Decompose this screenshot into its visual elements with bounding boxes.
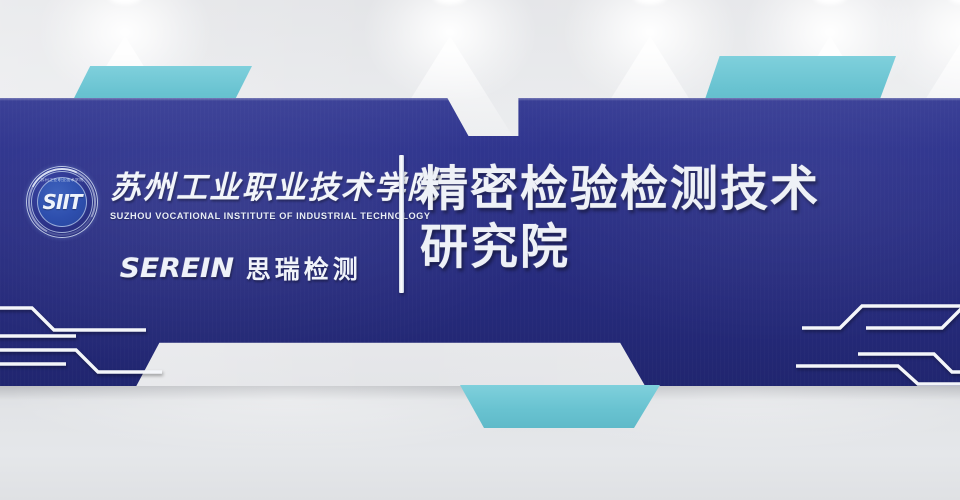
partner-logo-row: SEREIN 思瑞检测 — [122, 250, 362, 286]
circuit-left-svg — [0, 296, 244, 382]
signage-scene: 苏州工业职业技术学院 SIIT 苏州工业职业技术学院 SUZHOU VOCATI… — [0, 0, 960, 500]
emblem-monogram: SIIT — [26, 190, 98, 214]
university-emblem-icon: 苏州工业职业技术学院 SIIT — [26, 166, 98, 238]
circuit-pattern-left — [0, 296, 244, 382]
vertical-divider — [399, 155, 404, 293]
circuit-right-svg — [766, 296, 960, 382]
logo-block: 苏州工业职业技术学院 SIIT 苏州工业职业技术学院 SUZHOU VOCATI… — [18, 158, 398, 298]
circuit-trace-8 — [796, 366, 960, 384]
circuit-pattern-right — [766, 296, 960, 382]
institute-title: 精密检验检测技术 研究院 — [420, 160, 950, 276]
circuit-trace-6 — [866, 308, 960, 328]
university-name-cn: 苏州工业职业技术学院 — [110, 168, 440, 208]
institute-title-line2: 研究院 — [420, 218, 950, 276]
circuit-trace-1 — [0, 308, 146, 330]
partner-name-cn: 思瑞检测 — [246, 250, 362, 286]
circuit-trace-7 — [858, 354, 960, 372]
circuit-trace-5 — [802, 306, 960, 328]
emblem-micro-text: 苏州工业职业技术学院 — [26, 177, 98, 182]
university-name-en: SUZHOU VOCATIONAL INSTITUTE OF INDUSTRIA… — [110, 210, 431, 222]
partner-name-en: SEREIN — [120, 253, 234, 284]
circuit-trace-3 — [0, 350, 162, 372]
teal-trapezoid-bottom-center — [460, 385, 660, 428]
institute-title-line1: 精密检验检测技术 — [420, 160, 950, 218]
